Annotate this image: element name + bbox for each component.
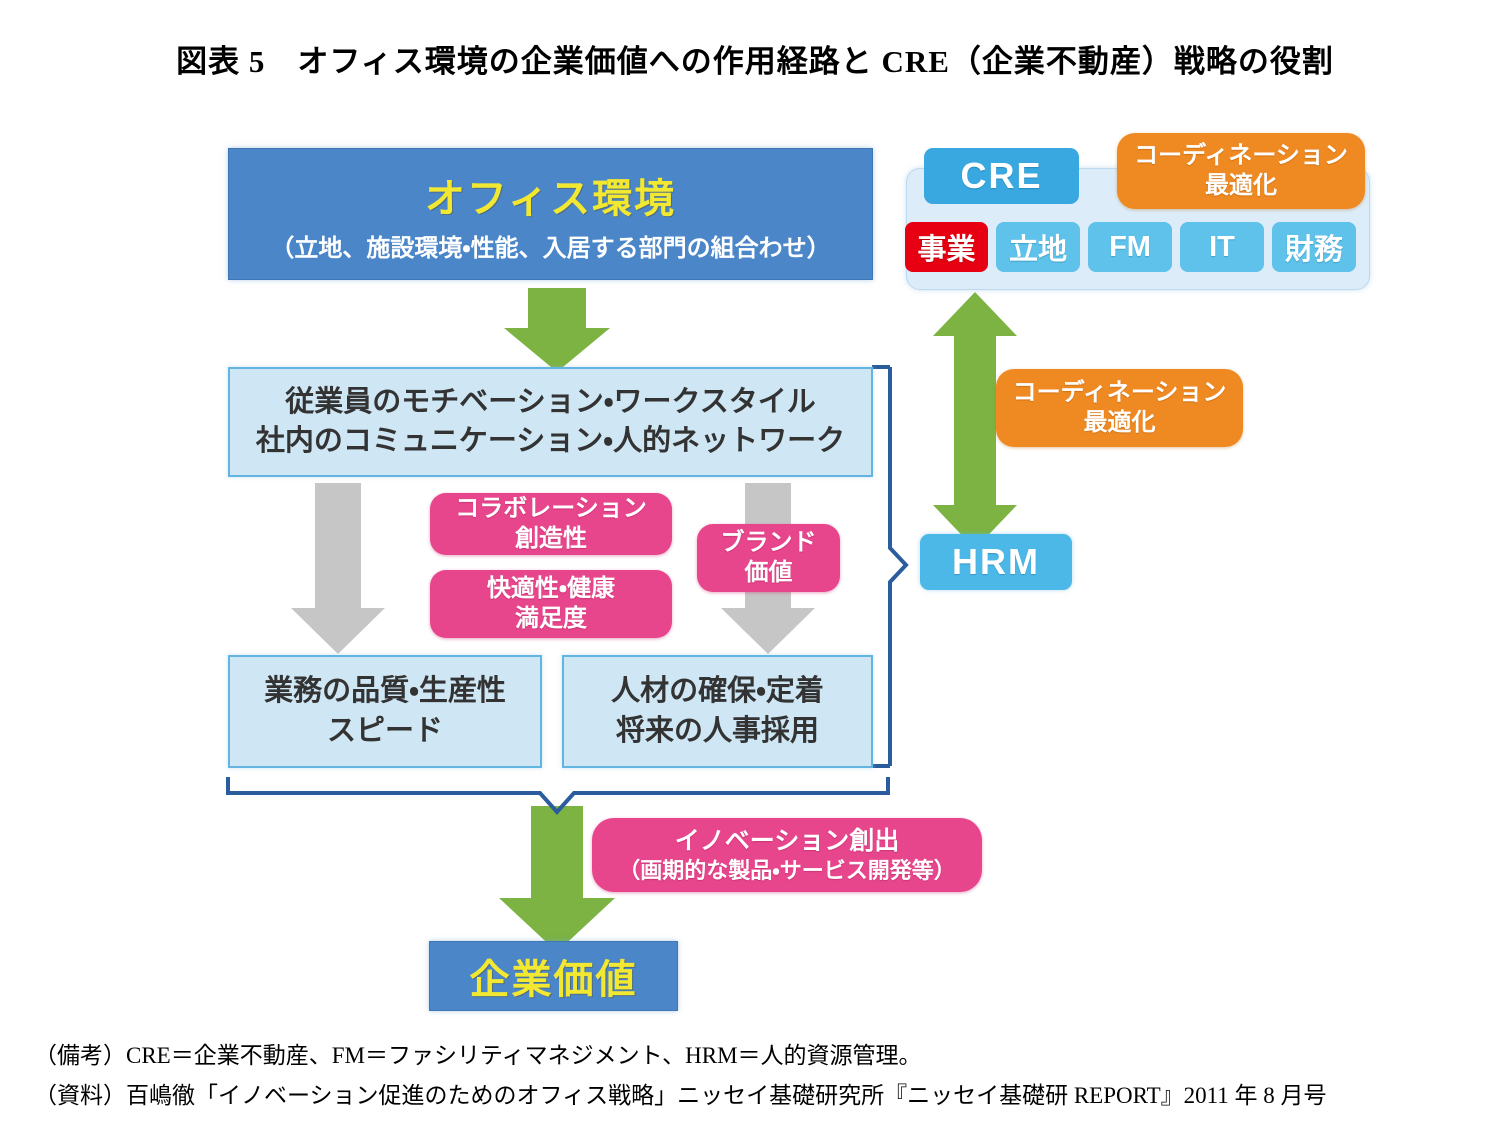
- footnotes: （備考）CRE＝企業不動産、FM＝ファシリティマネジメント、HRM＝人的資源管理…: [34, 1036, 1484, 1117]
- outcome-quality-box: 業務の品質・生産性 スピード: [228, 655, 542, 768]
- cre-chip-finance[interactable]: 財務: [1272, 222, 1356, 272]
- outcome-bracket-bottom: [228, 777, 888, 812]
- cre-chip-business[interactable]: 事業: [905, 222, 988, 272]
- badge-innovation: イノベーション創出 （画期的な製品・サービス開発等）: [592, 818, 982, 892]
- hrm-box: HRM: [920, 534, 1072, 590]
- office-environment-headline: オフィス環境: [425, 166, 676, 224]
- footnote-remark: （備考）CRE＝企業不動産、FM＝ファシリティマネジメント、HRM＝人的資源管理…: [34, 1036, 1484, 1076]
- badge-collaboration-line2: 創造性: [515, 524, 587, 554]
- outcome-quality-line2: スピード: [327, 712, 443, 751]
- corporate-value-headline: 企業価値: [470, 947, 638, 1005]
- badge-brand-line2: 価値: [745, 558, 793, 588]
- badge-coordination-middle: コーディネーション 最適化: [996, 369, 1243, 447]
- outcome-talent-line1: 人材の確保・定着: [611, 672, 824, 711]
- badge-brand-line1: ブランド: [721, 528, 817, 558]
- employee-motivation-line2: 社内のコミュニケーション・人的ネットワーク: [256, 422, 845, 461]
- office-environment-box: オフィス環境 （立地、施設環境・性能、入居する部門の組合わせ）: [228, 148, 873, 280]
- badge-coordination-middle-line1: コーディネーション: [1013, 378, 1227, 408]
- employee-motivation-line1: 従業員のモチベーション・ワークスタイル: [285, 383, 815, 422]
- corporate-value-box: 企業価値: [429, 941, 678, 1011]
- outcome-talent-line2: 将来の人事採用: [616, 712, 819, 751]
- badge-collaboration: コラボレーション 創造性: [430, 493, 672, 555]
- outcome-quality-line1: 業務の品質・生産性: [264, 672, 506, 711]
- office-environment-subline: （立地、施設環境・性能、入居する部門の組合わせ）: [270, 228, 830, 263]
- cre-chip-it[interactable]: IT: [1180, 222, 1264, 272]
- green-arrow-office-to-employee: [504, 288, 610, 372]
- badge-coordination-middle-line2: 最適化: [1084, 408, 1156, 438]
- badge-innovation-line1: イノベーション創出: [675, 826, 900, 857]
- badge-comfort-line1: 快適性・健康: [487, 574, 615, 604]
- gray-arrow-left: [291, 483, 385, 654]
- cre-tag: CRE: [924, 148, 1079, 204]
- employee-motivation-box: 従業員のモチベーション・ワークスタイル 社内のコミュニケーション・人的ネットワー…: [228, 367, 873, 477]
- cre-chip-fm[interactable]: FM: [1088, 222, 1172, 272]
- outcome-talent-box: 人材の確保・定着 将来の人事採用: [562, 655, 873, 768]
- footnote-source: （資料）百嶋徹「イノベーション促進のためのオフィス戦略」ニッセイ基礎研究所『ニッ…: [34, 1076, 1484, 1116]
- badge-comfort-line2: 満足度: [515, 604, 587, 634]
- badge-collaboration-line1: コラボレーション: [455, 494, 647, 524]
- diagram-canvas: オフィス環境 （立地、施設環境・性能、入居する部門の組合わせ） 従業員のモチベー…: [0, 0, 1510, 1030]
- badge-coordination-top-line2: 最適化: [1205, 171, 1277, 201]
- cre-chip-location[interactable]: 立地: [996, 222, 1080, 272]
- badge-comfort: 快適性・健康 満足度: [430, 570, 672, 638]
- badge-brand: ブランド 価値: [697, 524, 840, 592]
- badge-innovation-line2: （画期的な製品・サービス開発等）: [618, 857, 955, 885]
- badge-coordination-top-line1: コーディネーション: [1134, 141, 1348, 171]
- badge-coordination-top: コーディネーション 最適化: [1117, 133, 1365, 209]
- flow-bracket-right: [872, 367, 906, 766]
